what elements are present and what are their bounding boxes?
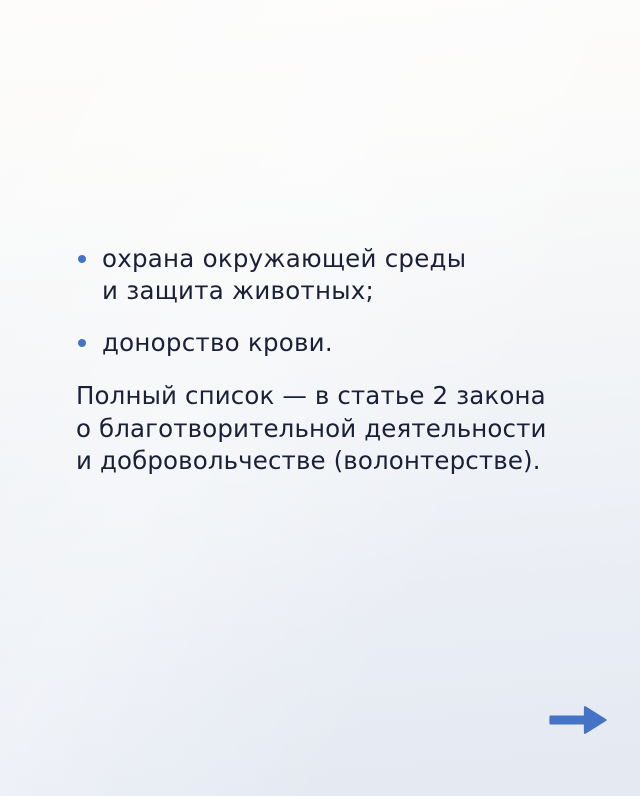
bullet-dot-icon bbox=[78, 339, 86, 347]
list-item-label: донорство крови. bbox=[102, 327, 556, 359]
list-item: донорство крови. bbox=[76, 327, 556, 359]
slide-content-block: охрана окружающей среды и защита животны… bbox=[76, 243, 556, 503]
list-item: охрана окружающей среды и защита животны… bbox=[76, 243, 556, 307]
closing-paragraph: Полный список — в статье 2 закона о благ… bbox=[76, 380, 556, 478]
list-item-label: охрана окружающей среды и защита животны… bbox=[102, 243, 556, 307]
bullet-dot-icon bbox=[78, 255, 86, 263]
slide-canvas: охрана окружающей среды и защита животны… bbox=[0, 0, 640, 796]
bullet-list: охрана окружающей среды и защита животны… bbox=[76, 243, 556, 359]
arrow-right-icon[interactable] bbox=[549, 698, 607, 742]
